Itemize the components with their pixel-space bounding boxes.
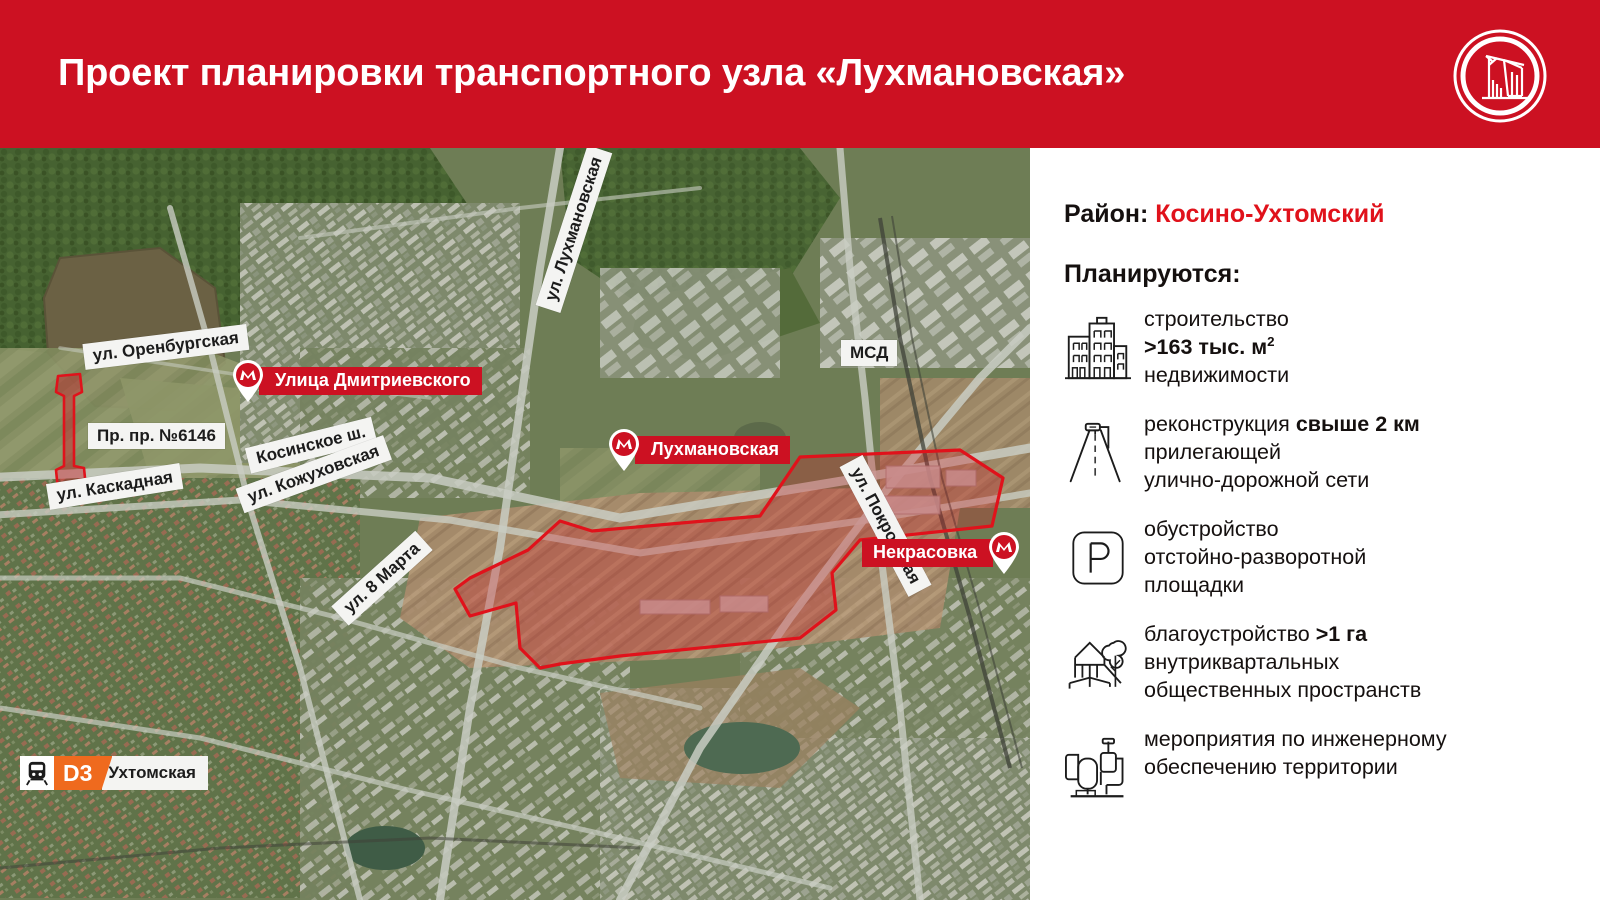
feature-public-spaces-text: благоустройство >1 га внутриквартальных … (1144, 619, 1592, 705)
feature-line-2: внутриквартальных (1144, 649, 1592, 677)
utilities-pump-icon (1052, 726, 1144, 810)
feature-construction: строительство >163 тыс. м2 недвижимости (1052, 304, 1592, 400)
planned-heading: Планируются: (1064, 260, 1241, 289)
rail-station-label: Ухтомская (102, 756, 208, 790)
rail-line-badge-ukhtomskaya[interactable]: D3 Ухтомская (20, 756, 208, 790)
feature-line-1: мероприятия по инженерному (1144, 726, 1592, 754)
metro-station-lukhmanovskaya[interactable]: Лухмановская (606, 435, 790, 465)
feature-parking-text: обустройство отстойно-разворотной площад… (1144, 514, 1592, 600)
satellite-map[interactable]: ул. Оренбургская Пр. пр. №6146 ул. Каска… (0, 148, 1030, 900)
feature-line-3: площадки (1144, 572, 1592, 600)
feature-construction-text: строительство >163 тыс. м2 недвижимости (1144, 304, 1592, 390)
feature-utilities-text: мероприятия по инженерному обеспечению т… (1144, 724, 1592, 782)
metro-station-label: Некрасовка (862, 539, 993, 568)
construction-crane-emblem-icon (1452, 28, 1548, 124)
metro-station-nekrasovka[interactable]: Некрасовка (862, 538, 1022, 568)
feature-road-text: реконструкция свыше 2 км прилегающей ули… (1144, 409, 1592, 495)
feature-utilities: мероприятия по инженерному обеспечению т… (1052, 724, 1592, 820)
page-header: Проект планировки транспортного узла «Лу… (0, 0, 1600, 148)
district-value: Косино-Ухтомский (1155, 200, 1384, 228)
feature-road-reconstruction: реконструкция свыше 2 км прилегающей ули… (1052, 409, 1592, 505)
feature-line-2: >163 тыс. м2 (1144, 334, 1592, 362)
feature-line-3: улично-дорожной сети (1144, 467, 1592, 495)
metro-station-label: Улица Дмитриевского (259, 367, 482, 396)
feature-line-3: общественных пространств (1144, 677, 1592, 705)
metro-pin-icon (986, 531, 1022, 575)
feature-line-1: реконструкция свыше 2 км (1144, 411, 1592, 439)
infographic-page: Проект планировки транспортного узла «Лу… (0, 0, 1600, 900)
road-streetlight-icon (1052, 411, 1144, 495)
street-label: МСД (841, 340, 897, 366)
feature-line-1: благоустройство >1 га (1144, 621, 1592, 649)
metro-station-dmitrievskogo[interactable]: Улица Дмитриевского (230, 366, 482, 396)
page-title: Проект планировки транспортного узла «Лу… (58, 52, 1125, 95)
district-label: Район: (1064, 200, 1148, 228)
feature-line-2: обеспечению территории (1144, 754, 1592, 782)
feature-parking-area: обустройство отстойно-разворотной площад… (1052, 514, 1592, 610)
feature-line-2: прилегающей (1144, 439, 1592, 467)
feature-line-3: недвижимости (1144, 362, 1592, 390)
feature-public-spaces: благоустройство >1 га внутриквартальных … (1052, 619, 1592, 715)
metro-pin-icon (230, 359, 266, 403)
parking-sign-icon (1052, 516, 1144, 600)
planned-feature-list: строительство >163 тыс. м2 недвижимости (1052, 304, 1592, 829)
info-panel: Район: Косино-Ухтомский Планируются: (1030, 148, 1600, 900)
train-icon (20, 756, 54, 790)
playground-tree-icon (1052, 621, 1144, 705)
metro-pin-icon (606, 428, 642, 472)
feature-line-2: отстойно-разворотной (1144, 544, 1592, 572)
apartment-building-icon (1052, 306, 1144, 390)
street-label: Пр. пр. №6146 (88, 423, 225, 449)
metro-station-label: Лухмановская (635, 436, 790, 465)
district-row: Район: Косино-Ухтомский (1064, 200, 1384, 229)
feature-line-1: обустройство (1144, 516, 1592, 544)
feature-line-1: строительство (1144, 306, 1592, 334)
